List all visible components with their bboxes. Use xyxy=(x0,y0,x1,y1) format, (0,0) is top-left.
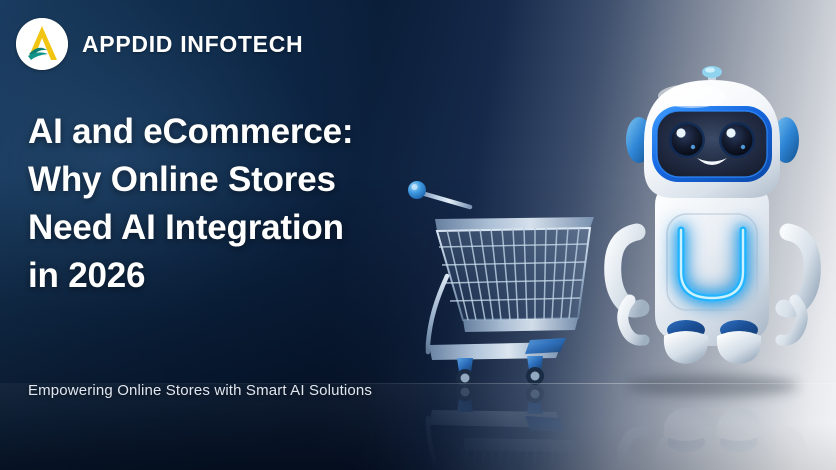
appdid-triangle-swoosh-logo xyxy=(16,18,68,70)
headline-line-4: in 2026 xyxy=(28,252,448,300)
brand-logo[interactable]: APPDID INFOTECH xyxy=(16,18,303,70)
headline-line-3: Need AI Integration xyxy=(28,204,448,252)
headline-line-2: Why Online Stores xyxy=(28,156,448,204)
headline-line-1: AI and eCommerce: xyxy=(28,108,448,156)
subheadline: Empowering Online Stores with Smart AI S… xyxy=(28,382,372,399)
brand-name: APPDID INFOTECH xyxy=(82,31,303,58)
headline: AI and eCommerce: Why Online Stores Need… xyxy=(28,108,448,300)
promo-banner: APPDID INFOTECH AI and eCommerce: Why On… xyxy=(0,0,836,470)
